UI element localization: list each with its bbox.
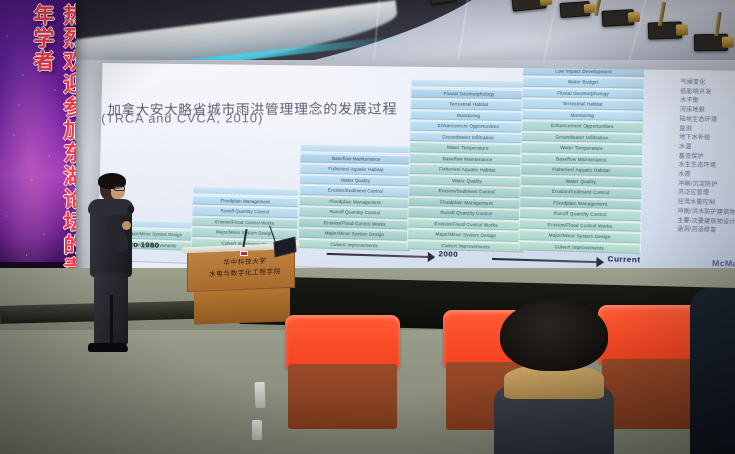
timeline-label-current: Current bbox=[607, 254, 640, 264]
timeline-arrow-icon bbox=[428, 252, 436, 263]
glasses-icon bbox=[114, 186, 125, 191]
audience-member-silhouette bbox=[690, 288, 735, 454]
presenter bbox=[78, 175, 142, 360]
audience-member bbox=[500, 300, 608, 454]
stage-light-icon bbox=[511, 0, 546, 12]
lectern: 华中科技大学 水电与数字化工程学院 bbox=[182, 245, 300, 323]
presenter-shoes bbox=[88, 343, 128, 352]
seat-armrest bbox=[252, 420, 262, 440]
slide-subtitle: (TRCA and CVCA, 2010) bbox=[101, 111, 263, 126]
audience-seat bbox=[285, 315, 400, 427]
flag-icon bbox=[240, 251, 248, 256]
welcome-banner: 热烈欢迎参加东湖论坛的青年学者 bbox=[0, 0, 76, 300]
lectern-sign-line-2: 水电与数字化工程学院 bbox=[196, 266, 294, 281]
block-column-2000: Baseflow MaintenanceFisheries/ Aquatic H… bbox=[298, 143, 414, 251]
stage-light-icon bbox=[648, 21, 683, 39]
presenter-hand bbox=[122, 221, 131, 230]
audience-member-head bbox=[500, 300, 608, 371]
stage-light-icon bbox=[560, 1, 591, 18]
timeline-label-2000: 2000 bbox=[438, 249, 458, 259]
block-label: Culvert Improvements bbox=[518, 239, 641, 254]
block-column-current: Climate ChangeLow Impact DevelopmentWate… bbox=[518, 63, 646, 254]
timeline-segment bbox=[492, 258, 596, 263]
seat-back bbox=[288, 364, 396, 429]
chinese-glossary-list: 气候变化低影响开发水平衡河床地貌陆地生态环境监测地下水补给水温基流保护水生生态环… bbox=[677, 78, 735, 237]
seat-headrest bbox=[285, 315, 400, 369]
glossary-item: 涵洞/河道修复 bbox=[677, 226, 735, 238]
timeline-arrow-icon bbox=[596, 257, 604, 268]
lectern-sign: 华中科技大学 水电与数字化工程学院 bbox=[196, 255, 294, 281]
block-column-2000s: Fluvial GeomorphologyTerrestrial Habitat… bbox=[407, 79, 529, 253]
presenter-leg-gap bbox=[110, 295, 113, 343]
conference-hall-photo: 加拿大安大略省城市雨洪管理理念的发展过程 (TRCA and CVCA, 201… bbox=[0, 0, 735, 454]
stage-light-icon bbox=[694, 34, 728, 52]
lectern-base bbox=[194, 287, 290, 324]
stage-light-icon bbox=[602, 9, 635, 27]
light-mount-arm bbox=[714, 12, 721, 36]
timeline-segment bbox=[327, 253, 428, 258]
audience-member bbox=[690, 288, 735, 454]
seat-armrest bbox=[255, 382, 266, 408]
banner-text: 热烈欢迎参加东湖论坛的青年学者 bbox=[28, 4, 76, 300]
